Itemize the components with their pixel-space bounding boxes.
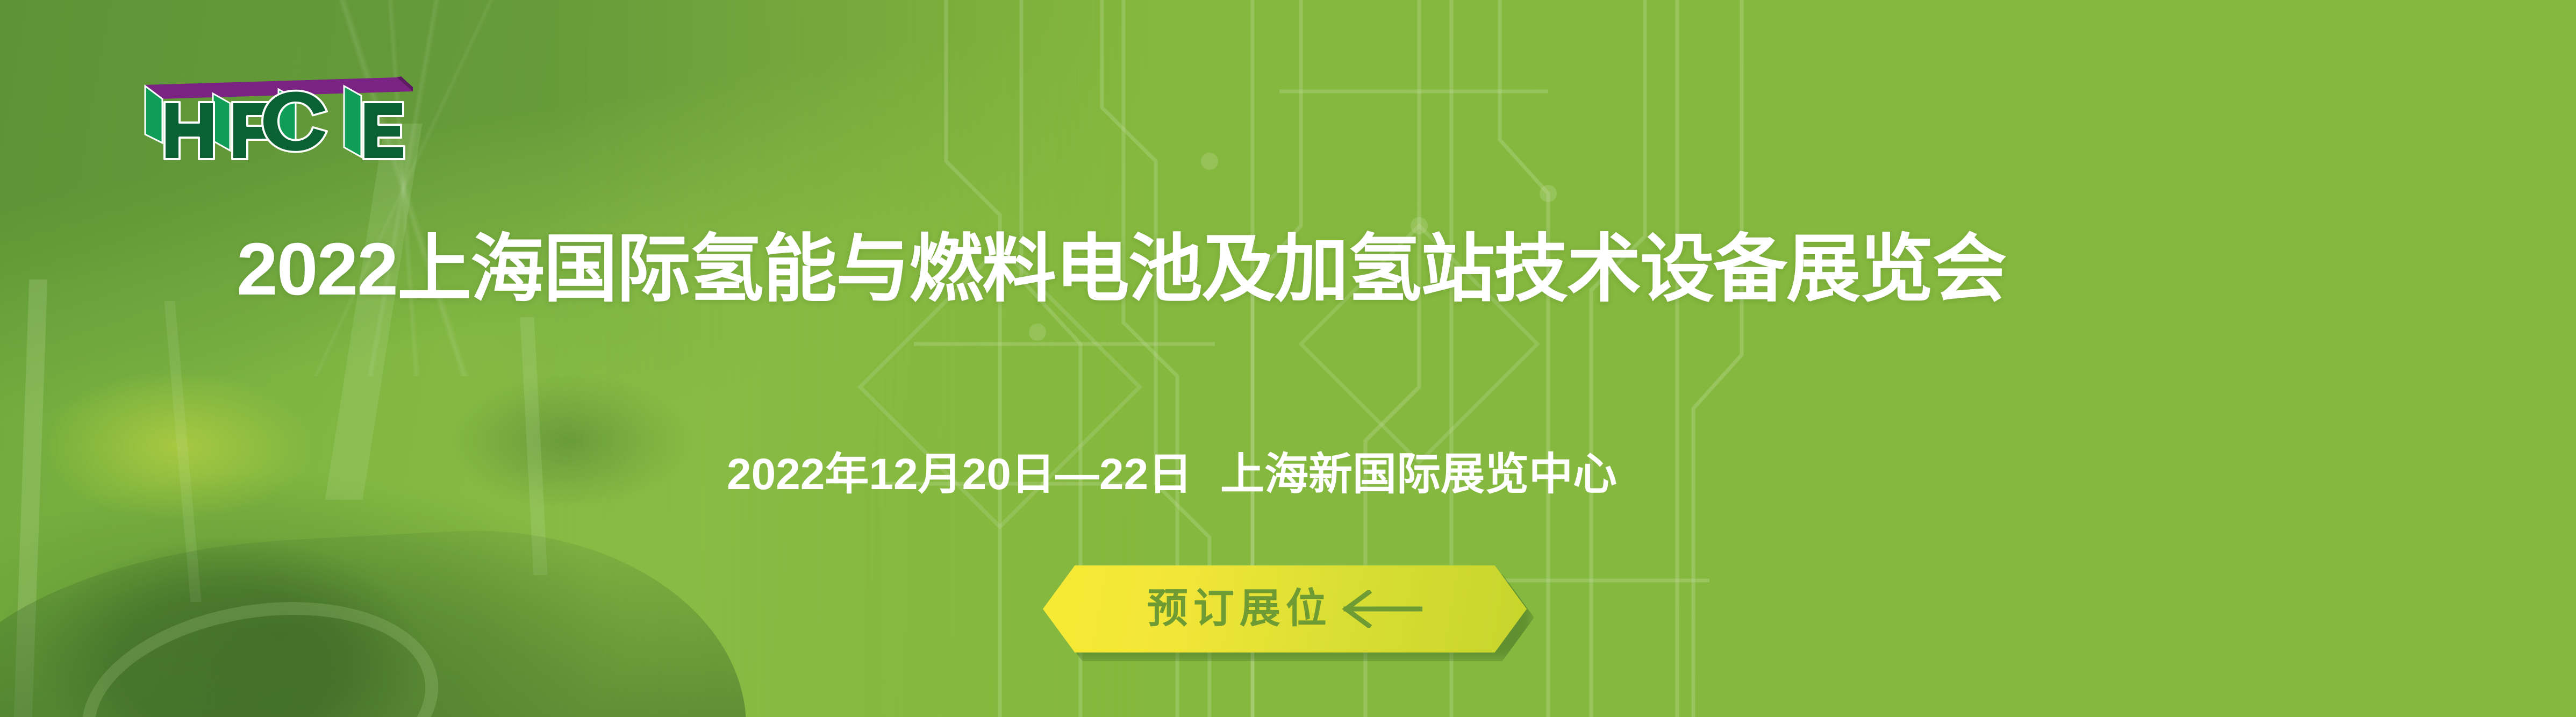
event-date: 2022年12月20日—22日	[727, 450, 1192, 499]
left-arrow-icon	[1342, 590, 1422, 628]
cta-content: 预订展位	[1147, 589, 1422, 629]
cta-surface[interactable]: 预订展位	[1043, 565, 1527, 653]
event-venue: 上海新国际展览中心	[1220, 450, 1617, 499]
book-booth-button[interactable]: 预订展位	[1043, 565, 1532, 660]
hfce-logo[interactable]	[144, 75, 413, 167]
page-title: 2022上海国际氢能与燃料电池及加氢站技术设备展览会	[237, 232, 2006, 306]
exhibition-banner: 2022上海国际氢能与燃料电池及加氢站技术设备展览会 2022年12月20日—2…	[0, 0, 2576, 717]
event-info-line: 2022年12月20日—22日上海新国际展览中心	[727, 453, 1617, 497]
cta-label: 预订展位	[1147, 589, 1332, 629]
